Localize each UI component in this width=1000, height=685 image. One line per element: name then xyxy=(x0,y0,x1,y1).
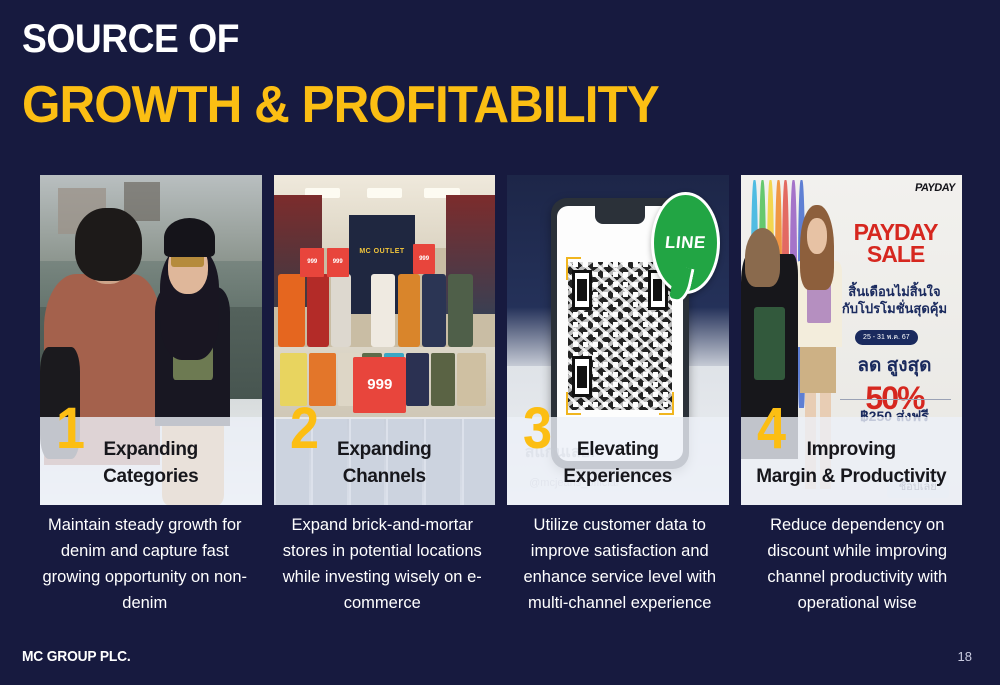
caption-3: Utilize customer data to improve satisfa… xyxy=(505,512,735,622)
payday-brand-tag: PAYDAY xyxy=(915,182,957,194)
card-2-title-line2: Channels xyxy=(282,464,488,491)
pillar-card-2[interactable]: MC OUTLET 999 999 999 999 2 Expanding xyxy=(274,175,496,505)
payday-thai-copy: สิ้นเดือนไม่สิ้นใจ กับโปรโมชั่นสุดคุ้ม xyxy=(834,284,956,318)
payday-headline-2: SALE xyxy=(836,243,956,265)
card-3-title-line2: Experiences xyxy=(515,464,721,491)
price-tag-small-3: 999 xyxy=(413,244,435,274)
pillar-card-4[interactable]: PAYDAY PAYDAY SALE สิ้นเดือนไม่สิ้นใจ กั… xyxy=(741,175,963,505)
card-2-title-line1: Expanding xyxy=(282,437,488,464)
slide-root: SOURCE OF GROWTH & PROFITABILITY 1 Expan… xyxy=(0,0,1000,685)
line-label: LINE xyxy=(664,233,707,253)
caption-1: Maintain steady growth for denim and cap… xyxy=(30,512,260,622)
company-logo: MC GROUP PLC. xyxy=(22,648,131,665)
caption-row: Maintain steady growth for denim and cap… xyxy=(30,512,972,622)
price-tag-small-1: 999 xyxy=(300,248,324,278)
payday-date-range: 25 - 31 พ.ค. 67 xyxy=(855,330,918,345)
caption-4: Reduce dependency on discount while impr… xyxy=(743,512,973,622)
discount-label: ลด สูงสุด xyxy=(857,350,931,380)
line-app-icon: LINE xyxy=(651,192,720,294)
payday-thai-line1: สิ้นเดือนไม่สิ้นใจ xyxy=(834,284,956,301)
title-line-secondary: GROWTH & PROFITABILITY xyxy=(22,77,877,134)
payday-headline: PAYDAY SALE xyxy=(836,221,956,265)
page-title: SOURCE OF GROWTH & PROFITABILITY xyxy=(22,18,922,134)
card-1-title-line2: Categories xyxy=(48,464,254,491)
pillar-card-3[interactable]: LINE สแกนเลย! @mcjeans_official 3 Elevat… xyxy=(507,175,729,505)
card-2-title: Expanding Channels xyxy=(282,437,488,491)
card-4-title-line2: Margin & Productivity xyxy=(749,464,955,491)
payday-thai-line2: กับโปรโมชั่นสุดคุ้ม xyxy=(834,301,956,318)
caption-2: Expand brick-and-mortar stores in potent… xyxy=(268,512,498,622)
title-line-primary: SOURCE OF xyxy=(22,18,859,61)
pillar-card-1[interactable]: 1 Expanding Categories xyxy=(40,175,262,505)
card-3-title-line1: Elevating xyxy=(515,437,721,464)
payday-headline-1: PAYDAY xyxy=(836,221,956,243)
pillar-card-row: 1 Expanding Categories MC OUTLET 999 999… xyxy=(40,175,962,505)
price-tag-small-2: 999 xyxy=(327,248,349,278)
card-3-title: Elevating Experiences xyxy=(515,437,721,491)
card-4-title: Improving Margin & Productivity xyxy=(749,437,955,491)
card-1-title: Expanding Categories xyxy=(48,437,254,491)
card-4-title-line1: Improving xyxy=(749,437,955,464)
card-1-title-line1: Expanding xyxy=(48,437,254,464)
store-sign: MC OUTLET xyxy=(358,248,407,268)
page-number: 18 xyxy=(958,649,972,664)
price-tag-main: 999 xyxy=(353,357,406,413)
